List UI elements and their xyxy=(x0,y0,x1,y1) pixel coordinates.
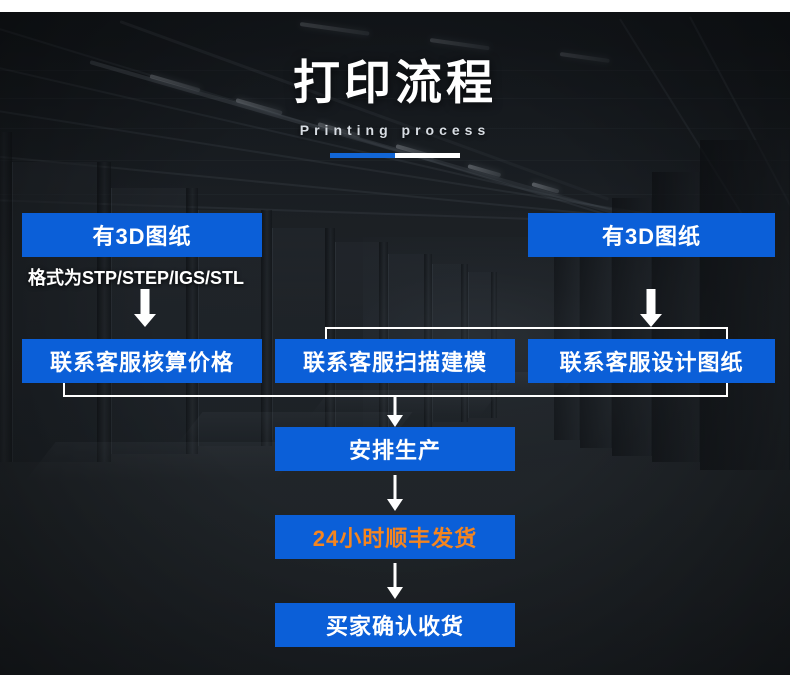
arrow-shaft xyxy=(647,289,656,315)
arrow-head xyxy=(640,314,662,327)
arrow-shaft xyxy=(394,475,397,501)
arrow-down-icon xyxy=(134,289,156,327)
arrow-down-icon xyxy=(387,475,403,511)
connector-horizontal xyxy=(325,327,728,329)
arrow-shaft xyxy=(394,563,397,589)
step-contact-quote[interactable]: 联系客服核算价格 xyxy=(22,339,262,383)
arrow-shaft xyxy=(394,395,397,417)
connector-vertical xyxy=(726,381,728,397)
step-contact-scan-model[interactable]: 联系客服扫描建模 xyxy=(275,339,515,383)
arrow-head xyxy=(387,499,403,511)
step-buyer-confirm-receipt[interactable]: 买家确认收货 xyxy=(275,603,515,647)
arrow-down-icon xyxy=(387,563,403,599)
title-underline-blue xyxy=(330,153,395,158)
arrow-shaft xyxy=(141,289,150,315)
step-have-3d-drawing-right[interactable]: 有3D图纸 xyxy=(528,213,775,257)
title-underline xyxy=(330,153,460,158)
step-have-3d-drawing-left[interactable]: 有3D图纸 xyxy=(22,213,262,257)
note-accepted-formats: 格式为STP/STEP/IGS/STL xyxy=(28,264,244,290)
arrow-head xyxy=(387,587,403,599)
step-24h-shipping[interactable]: 24小时顺丰发货 xyxy=(275,515,515,559)
flowchart: 打印流程 Printing process 有3D图纸 有3D图纸 格式为STP… xyxy=(0,12,790,675)
step-arrange-production[interactable]: 安排生产 xyxy=(275,427,515,471)
step-contact-design-drawing[interactable]: 联系客服设计图纸 xyxy=(528,339,775,383)
page-subtitle: Printing process xyxy=(0,122,790,138)
page-title: 打印流程 xyxy=(0,59,790,106)
arrow-head xyxy=(134,314,156,327)
arrow-down-icon xyxy=(387,395,403,427)
arrow-down-icon xyxy=(640,289,662,327)
arrow-head xyxy=(387,415,403,427)
banner-stage: 打印流程 Printing process 有3D图纸 有3D图纸 格式为STP… xyxy=(0,12,790,675)
title-underline-white xyxy=(395,153,460,158)
